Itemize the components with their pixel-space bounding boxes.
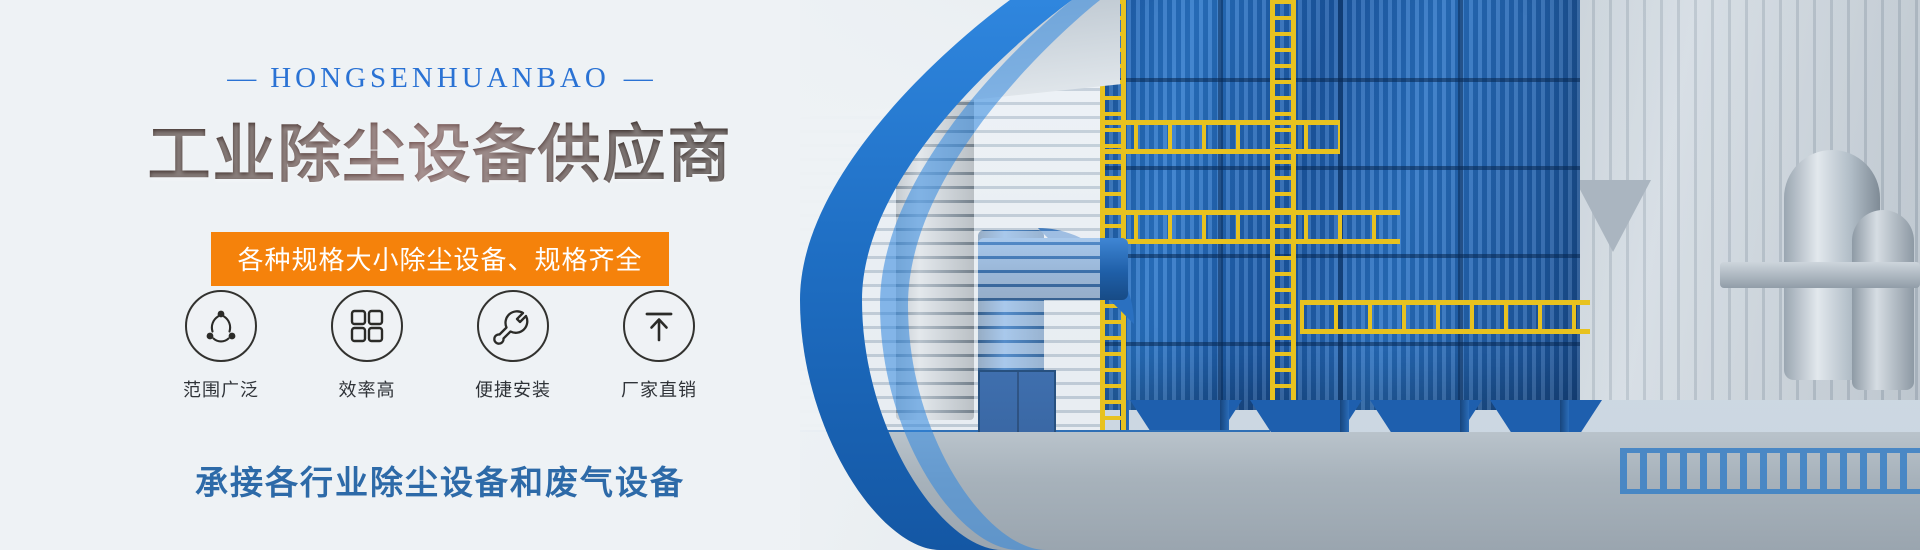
subtitle-bar-row: 各种规格大小除尘设备、规格齐全: [0, 232, 880, 286]
feature-list: 范围广泛 效率高: [0, 290, 880, 402]
up-arrow-icon: [640, 307, 678, 345]
yellow-railing: [1100, 210, 1400, 244]
eyebrow-dash-right: —: [624, 62, 653, 94]
subtitle-bar: 各种规格大小除尘设备、规格齐全: [211, 232, 668, 286]
cyclone-vessel-small: [1852, 210, 1914, 390]
grey-hopper-cone: [1575, 180, 1651, 252]
feature-icon-circle: [477, 290, 549, 362]
wrench-icon: [493, 306, 533, 346]
module-split: [1218, 0, 1223, 410]
yellow-railing: [1300, 300, 1590, 334]
feature-label: 便捷安装: [457, 376, 569, 402]
blue-baghouse-filter: [1100, 0, 1580, 410]
feature-icon-circle: [185, 290, 257, 362]
banner-content: —HONGSENHUANBAO— 工业除尘设备供应商 各种规格大小除尘设备、规格…: [0, 0, 880, 550]
feature-label: 效率高: [311, 376, 423, 402]
feature-label: 范围广泛: [165, 376, 277, 402]
horizontal-pipe: [1720, 262, 1920, 288]
feature-item-factory-direct[interactable]: 厂家直销: [603, 290, 715, 402]
feature-item-efficiency[interactable]: 效率高: [311, 290, 423, 402]
network-nodes-icon: [201, 306, 241, 346]
eyebrow-dash-left: —: [227, 62, 256, 94]
feature-item-installation[interactable]: 便捷安装: [457, 290, 569, 402]
four-squares-grid-icon: [348, 307, 386, 345]
module-split: [1458, 0, 1463, 410]
feature-item-coverage[interactable]: 范围广泛: [165, 290, 277, 402]
yellow-ladder: [1270, 0, 1296, 400]
feature-icon-circle: [623, 290, 695, 362]
brand-eyebrow: —HONGSENHUANBAO—: [0, 62, 880, 95]
feature-label: 厂家直销: [603, 376, 715, 402]
tagline: 承接各行业除尘设备和废气设备: [0, 456, 880, 504]
feature-icon-circle: [331, 290, 403, 362]
module-split: [1338, 0, 1343, 410]
dust-collector-plant-photo: [800, 0, 1920, 550]
blue-fence: [1620, 448, 1920, 494]
page-title: 工业除尘设备供应商: [0, 104, 880, 195]
yellow-railing: [1100, 120, 1340, 154]
promo-banner: —HONGSENHUANBAO— 工业除尘设备供应商 各种规格大小除尘设备、规格…: [0, 0, 1920, 550]
eyebrow-text: HONGSENHUANBAO: [270, 62, 610, 94]
